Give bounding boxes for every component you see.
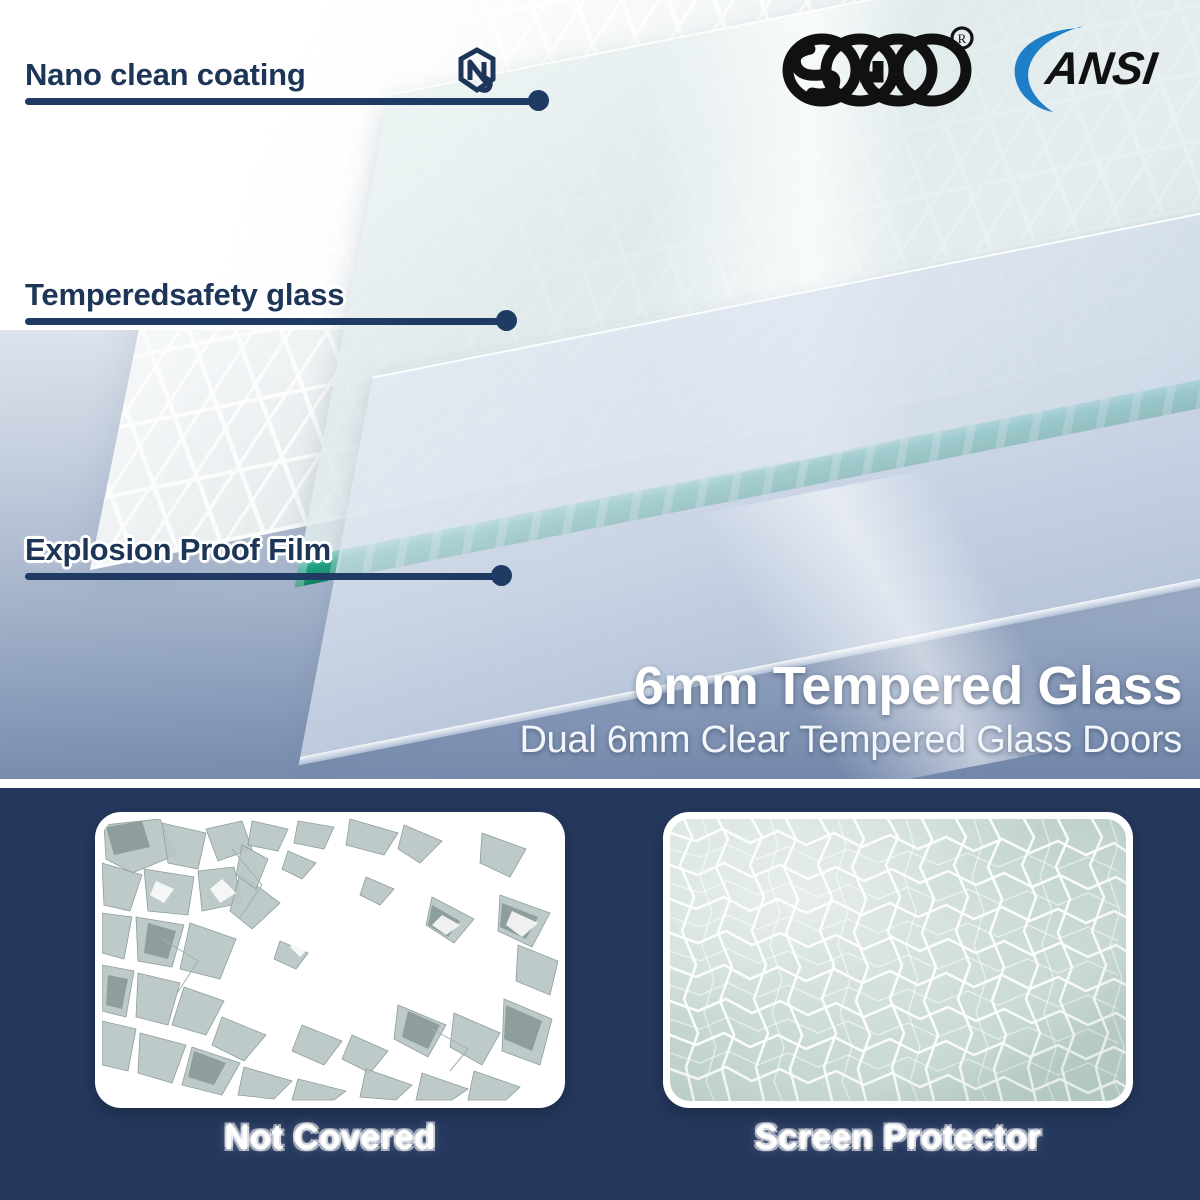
panel-frame (663, 812, 1133, 1108)
product-infographic: R ANSI Nano clean coating (0, 0, 1200, 1200)
comparison-section: Not Covered Screen Protector (0, 788, 1200, 1200)
callout-line (25, 573, 498, 580)
callout-explosion-proof-film: Explosion Proof Film (25, 530, 540, 580)
crazed-tempered-glass-image (670, 819, 1126, 1101)
panel-caption-screen-protector: Screen Protector (663, 1118, 1133, 1158)
callout-dot (496, 310, 517, 331)
sgcc-logo-icon: R (774, 25, 979, 111)
callout-dot (528, 90, 549, 111)
headline-block: 6mm Tempered Glass Dual 6mm Clear Temper… (520, 658, 1182, 761)
callout-tempered-safety-glass: Temperedsafety glass (25, 275, 545, 325)
nano-logo-icon (453, 47, 501, 95)
glass-layers-illustration: R ANSI Nano clean coating (0, 0, 1200, 783)
shattered-glass-shards-image (102, 819, 558, 1101)
ansi-logo-icon: ANSI (1005, 22, 1180, 114)
svg-text:R: R (958, 31, 967, 46)
callout-label: Nano clean coating (25, 57, 306, 93)
page-title: 6mm Tempered Glass (520, 658, 1182, 714)
callout-line (25, 318, 503, 325)
comparison-panel-not-covered (95, 812, 565, 1108)
certification-logos: R ANSI (774, 22, 1180, 114)
panel-caption-not-covered: Not Covered (95, 1118, 565, 1158)
svg-text:ANSI: ANSI (1042, 42, 1161, 94)
callout-line (25, 98, 535, 105)
panel-frame (95, 812, 565, 1108)
comparison-panel-screen-protector (663, 812, 1133, 1108)
page-subtitle: Dual 6mm Clear Tempered Glass Doors (520, 720, 1182, 761)
callout-label: Explosion Proof Film (25, 532, 331, 568)
callout-dot (491, 565, 512, 586)
callout-label: Temperedsafety glass (25, 277, 344, 313)
section-divider (0, 779, 1200, 788)
callout-nano-clean-coating: Nano clean coating (25, 55, 570, 105)
